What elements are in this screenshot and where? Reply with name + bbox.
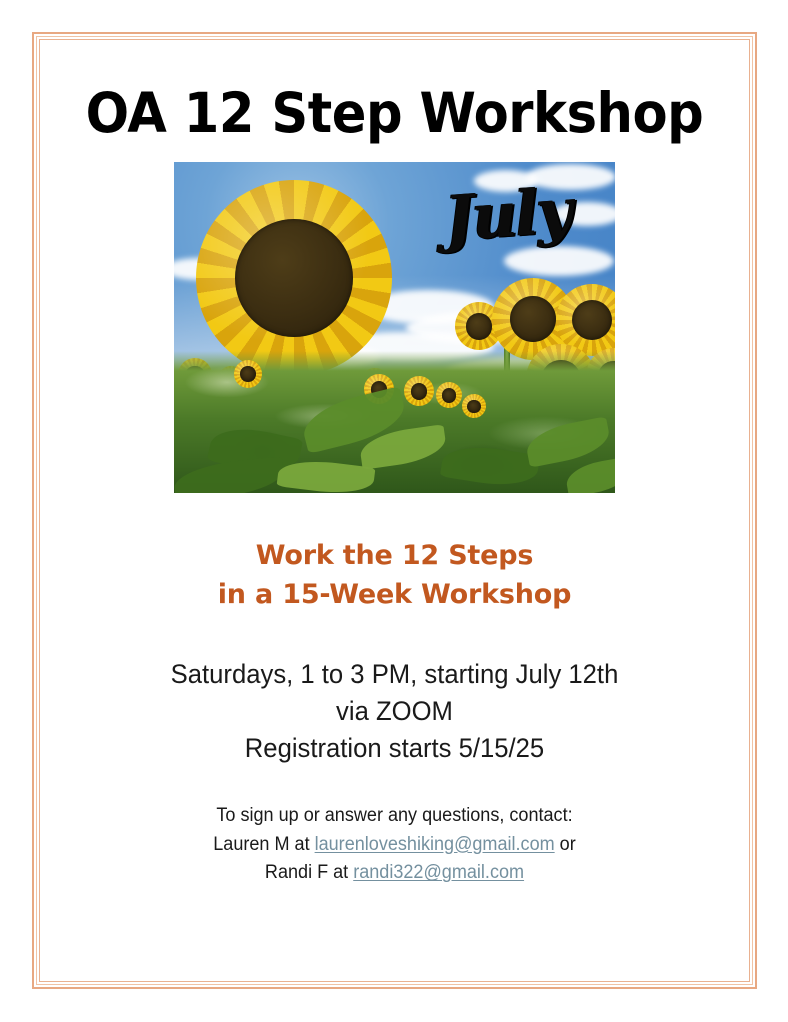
sunflower-field-photo: July: [174, 162, 615, 493]
july-overlay-text: July: [418, 178, 597, 252]
detail-registration: Registration starts 5/15/25: [63, 730, 725, 767]
flyer-page: OA 12 Step Workshop: [0, 0, 788, 1022]
email-link-randi[interactable]: randi322@gmail.com: [353, 862, 524, 883]
contact-person-1-prefix: Lauren M at: [213, 834, 314, 855]
contact-intro: To sign up or answer any questions, cont…: [63, 802, 725, 831]
headline-block: Work the 12 Steps in a 15-Week Workshop: [46, 493, 743, 614]
flyer-content: OA 12 Step Workshop: [46, 46, 743, 975]
contact-person-2: Randi F at randi322@gmail.com: [63, 859, 725, 888]
headline-line-2: in a 15-Week Workshop: [46, 576, 743, 614]
detail-schedule: Saturdays, 1 to 3 PM, starting July 12th: [63, 656, 725, 693]
email-link-lauren[interactable]: laurenloveshiking@gmail.com: [315, 834, 555, 855]
hero-sunflower: [196, 180, 392, 376]
page-title: OA 12 Step Workshop: [70, 46, 718, 142]
contact-block: To sign up or answer any questions, cont…: [63, 768, 725, 889]
detail-platform: via ZOOM: [63, 693, 725, 730]
contact-person-1-suffix: or: [555, 834, 576, 855]
event-details-block: Saturdays, 1 to 3 PM, starting July 12th…: [63, 614, 725, 768]
contact-person-1: Lauren M at laurenloveshiking@gmail.com …: [63, 831, 725, 860]
headline-line-1: Work the 12 Steps: [46, 537, 743, 575]
contact-person-2-prefix: Randi F at: [265, 862, 353, 883]
